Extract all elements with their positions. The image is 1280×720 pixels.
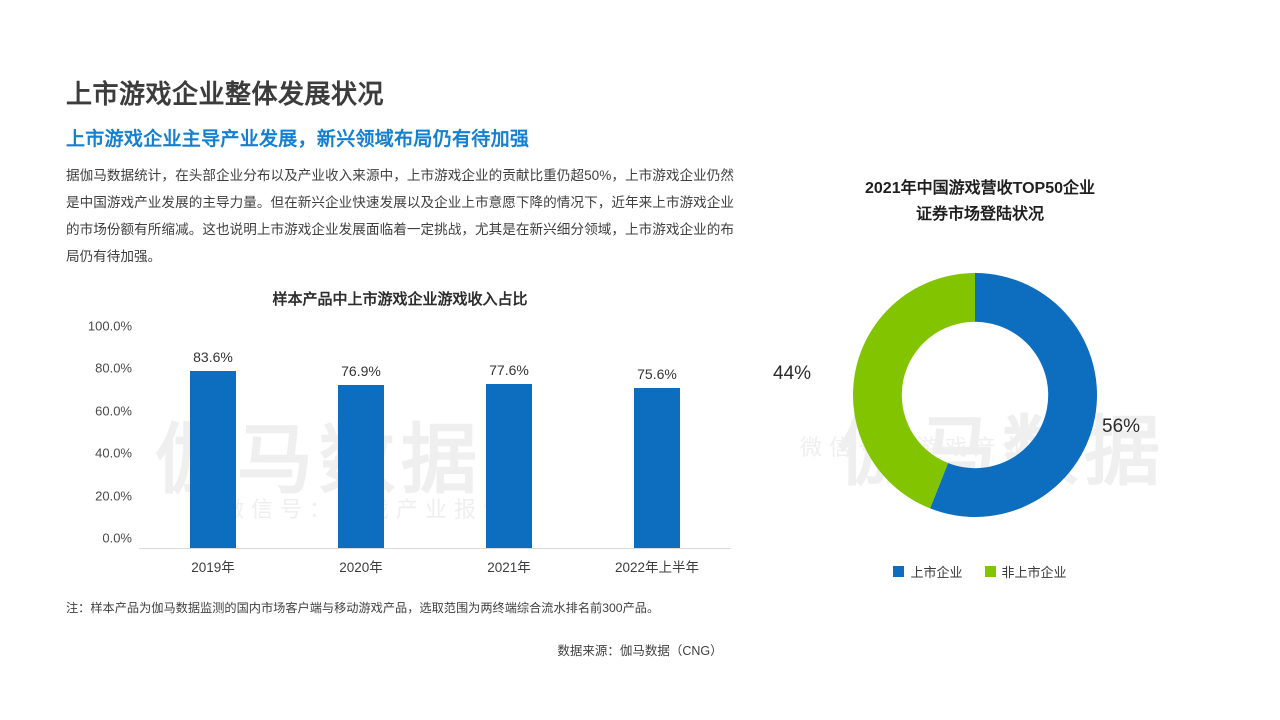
bar-group: 83.6% xyxy=(139,336,287,548)
bar-group: 77.6% xyxy=(435,336,583,548)
donut-value-label-listed: 56% xyxy=(1102,416,1140,438)
y-tick-label: 100.0% xyxy=(88,319,132,334)
donut-value-label-unlisted: 44% xyxy=(773,363,811,385)
y-tick-label: 60.0% xyxy=(95,403,132,418)
bar-chart-y-axis: 100.0% 80.0% 60.0% 40.0% 20.0% 0.0% xyxy=(60,326,132,558)
bar[interactable] xyxy=(486,384,532,549)
bar-chart-baseline xyxy=(139,548,731,549)
bar-group: 76.9% xyxy=(287,336,435,548)
chart-footnote: 注：样本产品为伽马数据监测的国内市场客户端与移动游戏产品，选取范围为两终端综合流… xyxy=(66,598,659,616)
bar-value-label: 83.6% xyxy=(193,349,233,365)
legend-label: 非上市企业 xyxy=(1002,562,1067,581)
bar[interactable] xyxy=(190,371,236,548)
data-source: 数据来源：伽马数据（CNG） xyxy=(0,640,1280,659)
donut-title-line-2: 证券市场登陆状况 xyxy=(770,202,1190,228)
donut-legend: 上市企业 非上市企业 xyxy=(770,562,1190,581)
y-tick-label: 40.0% xyxy=(95,446,132,461)
bar-group: 75.6% xyxy=(583,336,731,548)
x-tick-label: 2020年 xyxy=(287,556,435,576)
x-tick-label: 2019年 xyxy=(139,556,287,576)
bar-chart-title: 样本产品中上市游戏企业游戏收入占比 xyxy=(60,288,740,309)
body-paragraph: 据伽马数据统计，在头部企业分布以及产业收入来源中，上市游戏企业的贡献比重仍超50… xyxy=(66,162,734,270)
y-tick-label: 20.0% xyxy=(95,488,132,503)
donut-chart: 2021年中国游戏营收TOP50企业 证券市场登陆状况 56% 44% 上市企业… xyxy=(770,176,1190,596)
bar-value-label: 75.6% xyxy=(637,366,677,382)
bar[interactable] xyxy=(338,385,384,548)
legend-item-listed[interactable]: 上市企业 xyxy=(893,562,962,581)
legend-label: 上市企业 xyxy=(910,562,962,581)
donut-title-line-1: 2021年中国游戏营收TOP50企业 xyxy=(770,176,1190,202)
bar-value-label: 76.9% xyxy=(341,363,381,379)
legend-swatch-icon xyxy=(985,566,996,577)
bar-value-label: 77.6% xyxy=(489,362,529,378)
section-subtitle: 上市游戏企业主导产业发展，新兴领域布局仍有待加强 xyxy=(66,124,529,151)
slide-root: 伽马数据 微信号：游戏产业报告 伽马数据 微信号：游戏产业报告 上市游戏企业整体… xyxy=(0,0,1280,720)
y-tick-label: 0.0% xyxy=(102,531,132,546)
page-title: 上市游戏企业整体发展状况 xyxy=(66,74,384,111)
bar-chart-bars: 83.6% 76.9% 77.6% 75.6% xyxy=(139,336,731,548)
bar[interactable] xyxy=(634,388,680,548)
donut-graphic xyxy=(850,270,1100,520)
bar-chart-x-axis: 2019年 2020年 2021年 2022年上半年 xyxy=(139,556,731,576)
x-tick-label: 2022年上半年 xyxy=(583,556,731,576)
x-tick-label: 2021年 xyxy=(435,556,583,576)
legend-item-unlisted[interactable]: 非上市企业 xyxy=(985,562,1067,581)
donut-chart-title: 2021年中国游戏营收TOP50企业 证券市场登陆状况 xyxy=(770,176,1190,228)
bar-chart: 样本产品中上市游戏企业游戏收入占比 100.0% 80.0% 60.0% 40.… xyxy=(60,288,740,584)
y-tick-label: 80.0% xyxy=(95,361,132,376)
legend-swatch-icon xyxy=(893,566,904,577)
